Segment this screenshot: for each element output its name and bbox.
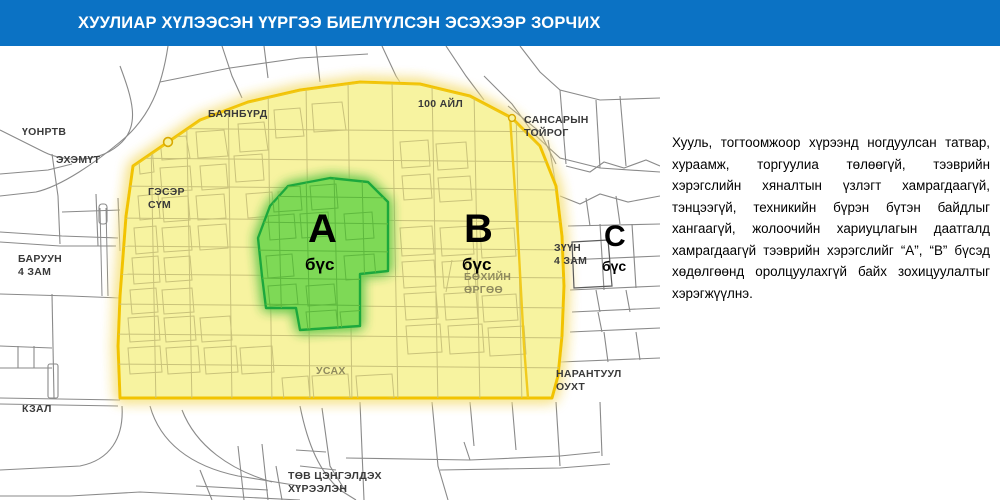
zone-a-sublabel: бүс [305,256,334,273]
zone-b-sublabel: бүс [462,256,491,273]
map-panel[interactable]: ҮОНРТВ ЭХЭМҮТ БАЯНБҮРД 100 АЙЛ САНСАРЫН … [0,46,660,500]
zone-a-letter: A [308,209,337,249]
page-title: ХУУЛИАР ХҮЛЭЭСЭН ҮҮРГЭЭ БИЕЛҮҮЛСЭН ЭСЭХЭ… [78,0,601,46]
header-bar: ХУУЛИАР ХҮЛЭЭСЭН ҮҮРГЭЭ БИЕЛҮҮЛСЭН ЭСЭХЭ… [0,0,1000,46]
legal-text-panel: Хууль, тогтоомжоор хүрээнд ногдуулсан та… [672,132,990,304]
content-area: ҮОНРТВ ЭХЭМҮТ БАЯНБҮРД 100 АЙЛ САНСАРЫН … [0,46,1000,500]
zone-b-letter: B [464,209,493,249]
legal-text-paragraph: Хууль, тогтоомжоор хүрээнд ногдуулсан та… [672,132,990,304]
zone-c-letter: C [604,222,626,252]
zone-c-sublabel: бүс [602,259,626,273]
